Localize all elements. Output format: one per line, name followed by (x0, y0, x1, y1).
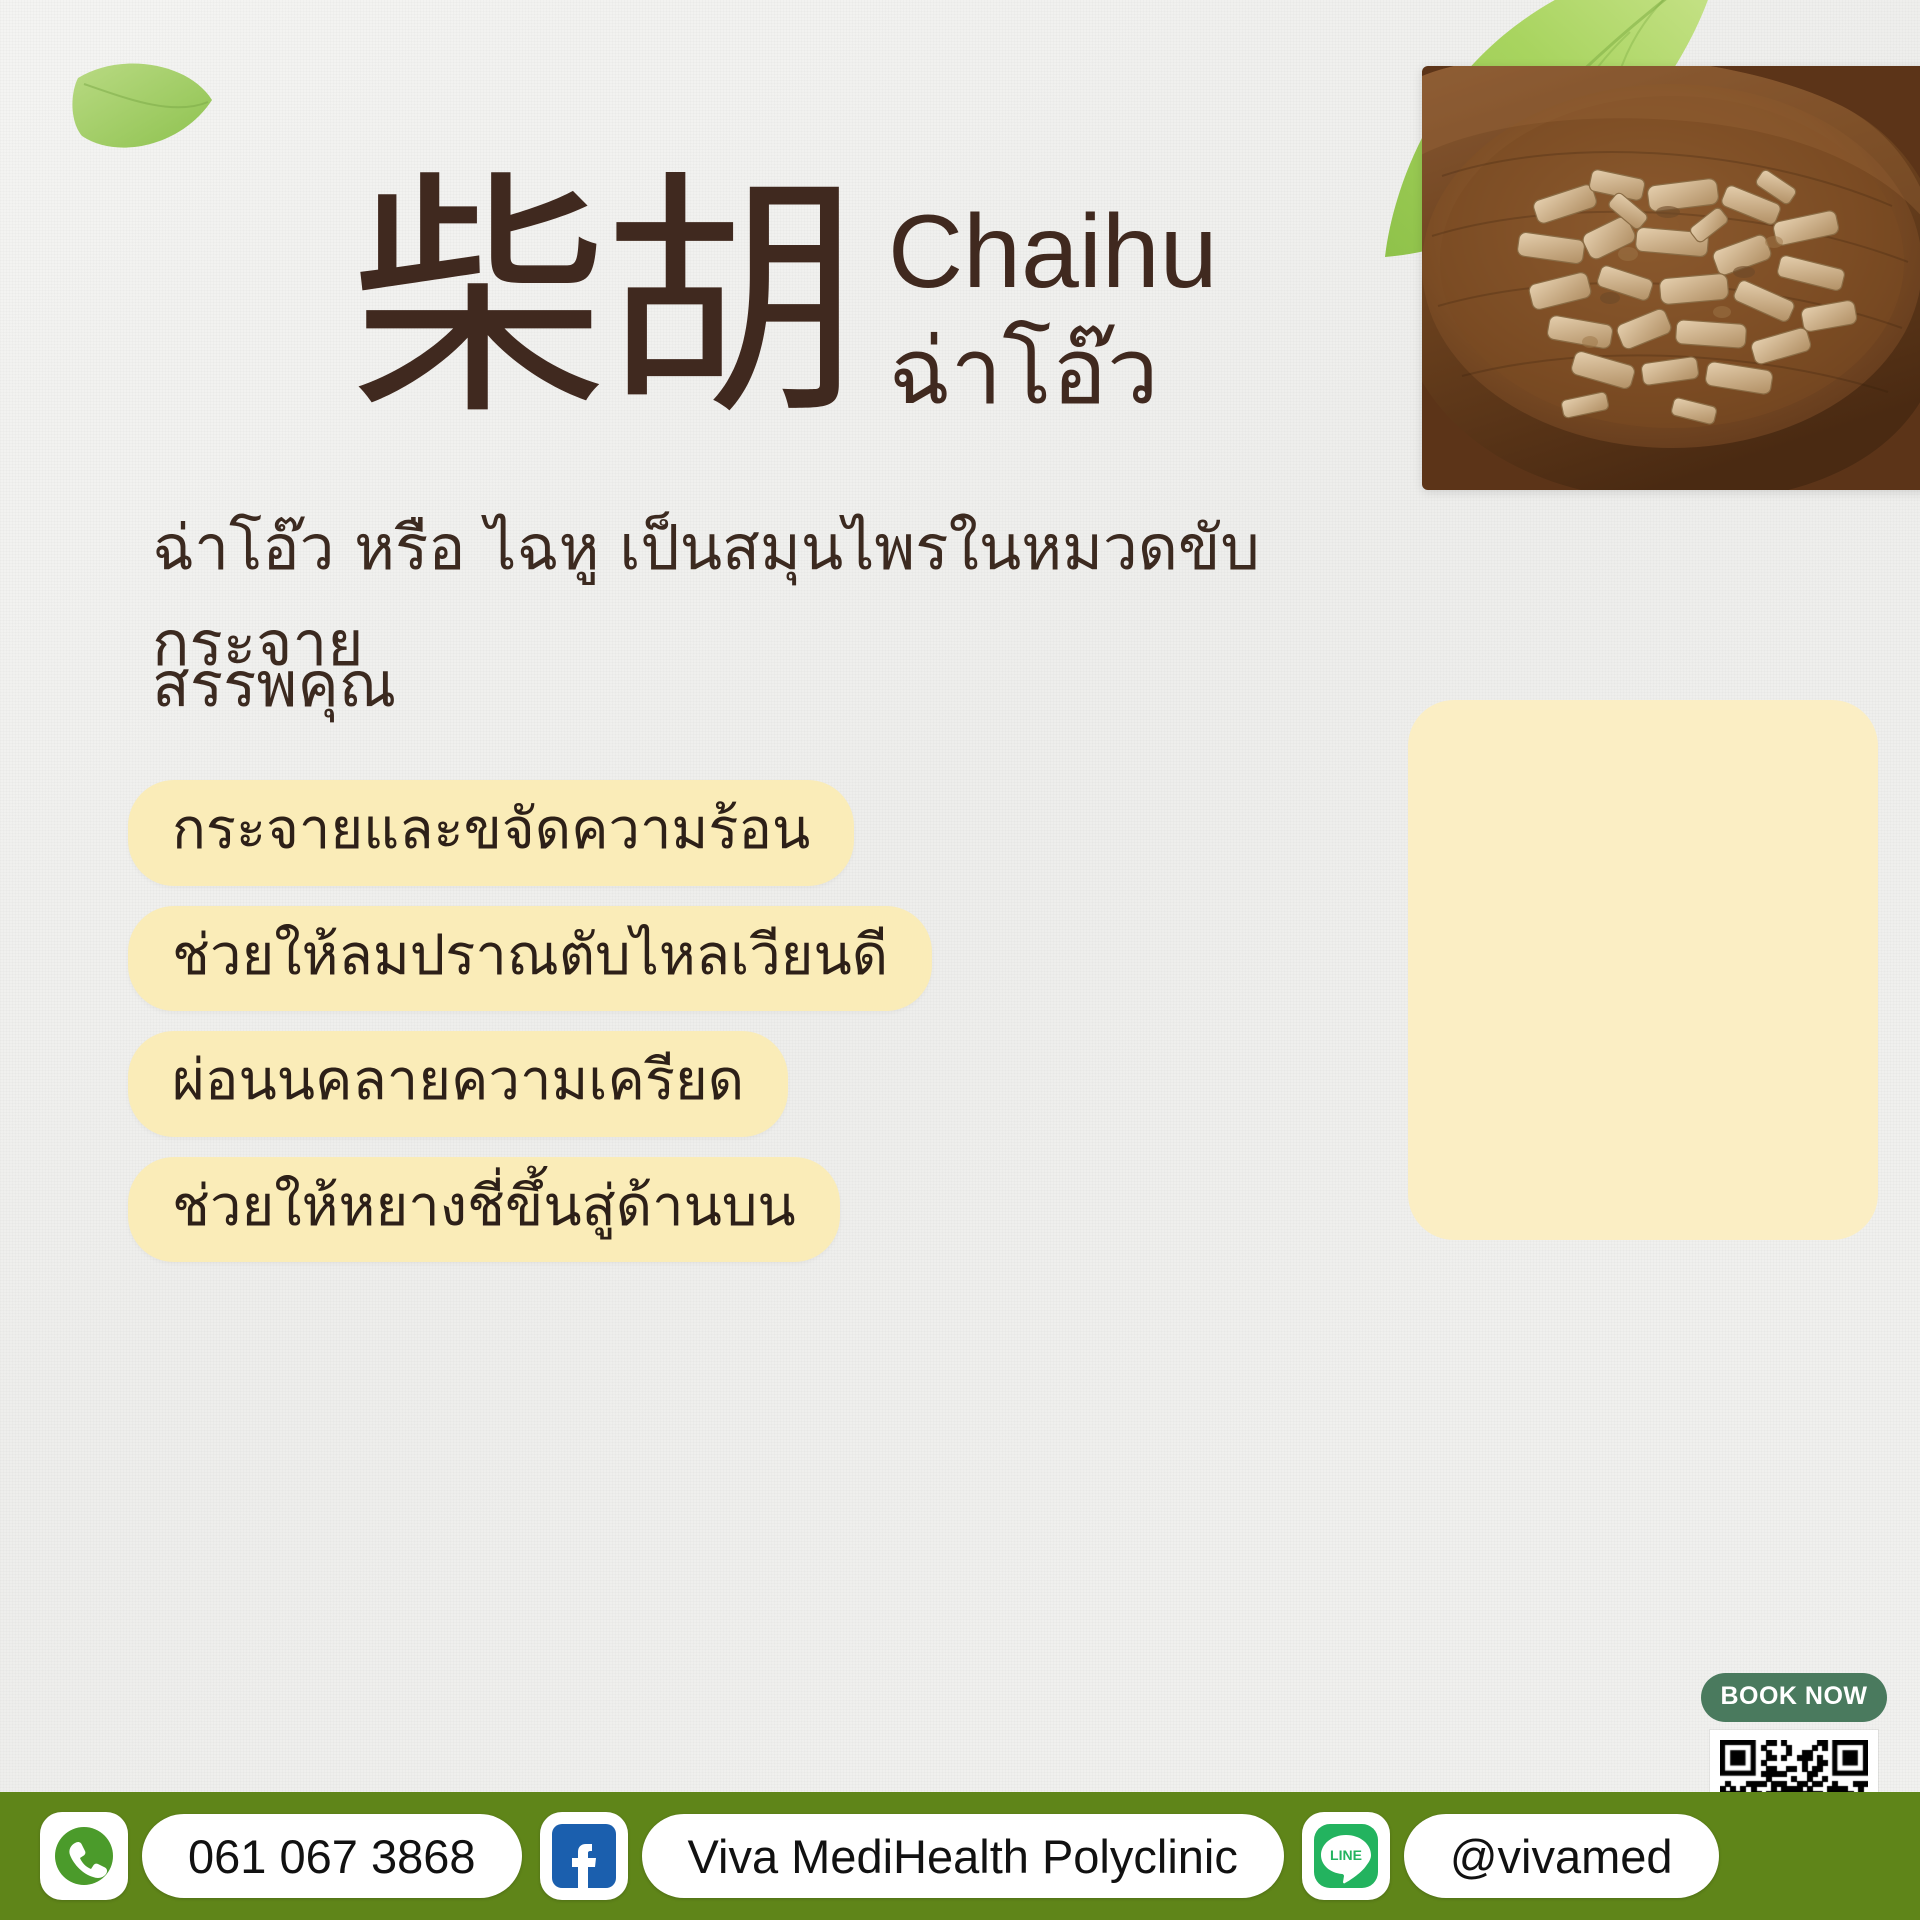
facebook-page-name: Viva MediHealth Polyclinic (688, 1829, 1238, 1884)
line-contact-group[interactable]: LINE @vivamed (1302, 1812, 1719, 1900)
line-id: @vivamed (1450, 1829, 1673, 1884)
benefit-pill: ช่วยให้ลมปราณตับไหลเวียนดี (128, 906, 932, 1012)
phone-number: 061 067 3868 (188, 1829, 476, 1884)
facebook-icon[interactable] (540, 1812, 628, 1900)
benefit-pill: กระจายและขจัดความร้อน (128, 780, 854, 886)
line-icon[interactable]: LINE (1302, 1812, 1390, 1900)
benefit-label: ผ่อนนคลายความเครียด (172, 1048, 744, 1113)
dried-chaihu-root-slices-in-wooden-spoon (1422, 66, 1920, 490)
phone-number-chip[interactable]: 061 067 3868 (142, 1814, 522, 1898)
phone-contact-group[interactable]: 061 067 3868 (40, 1812, 522, 1900)
photo-card-backdrop (1408, 700, 1878, 1240)
romanized-title: Chaihu (888, 200, 1218, 304)
benefits-heading: สรรพคุณ (152, 638, 396, 731)
facebook-contact-group[interactable]: Viva MediHealth Polyclinic (540, 1812, 1284, 1900)
svg-text:LINE: LINE (1330, 1847, 1362, 1863)
benefit-pill: ผ่อนนคลายความเครียด (128, 1031, 788, 1137)
thai-title: ฉ่าโอ๊ว (888, 310, 1218, 434)
benefit-label: ช่วยให้ลมปราณตับไหลเวียนดี (172, 923, 888, 988)
benefit-pill: ช่วยให้หยางชี่ขึ้นสู่ด้านบน (128, 1157, 840, 1263)
poster-canvas: viva® MediHealth 柴胡 Chaihu ฉ่าโอ๊ว ฉ่าโอ… (0, 0, 1920, 1920)
latin-thai-title-block: Chaihu ฉ่าโอ๊ว (888, 200, 1218, 434)
facebook-page-chip[interactable]: Viva MediHealth Polyclinic (642, 1814, 1284, 1898)
line-id-chip[interactable]: @vivamed (1404, 1814, 1719, 1898)
benefit-label: ช่วยให้หยางชี่ขึ้นสู่ด้านบน (172, 1174, 796, 1239)
contact-footer-bar: 061 067 3868 Viva MediHealth Polyclinic … (0, 1792, 1920, 1920)
benefits-list: กระจายและขจัดความร้อน ช่วยให้ลมปราณตับไห… (128, 780, 932, 1262)
phone-icon[interactable] (40, 1812, 128, 1900)
book-now-badge[interactable]: BOOK NOW (1701, 1673, 1887, 1722)
headline-block: 柴胡 Chaihu ฉ่าโอ๊ว (350, 178, 1218, 434)
benefit-label: กระจายและขจัดความร้อน (172, 797, 810, 862)
leaf-decoration-top-left (70, 60, 220, 170)
chinese-title: 柴胡 (350, 178, 854, 423)
